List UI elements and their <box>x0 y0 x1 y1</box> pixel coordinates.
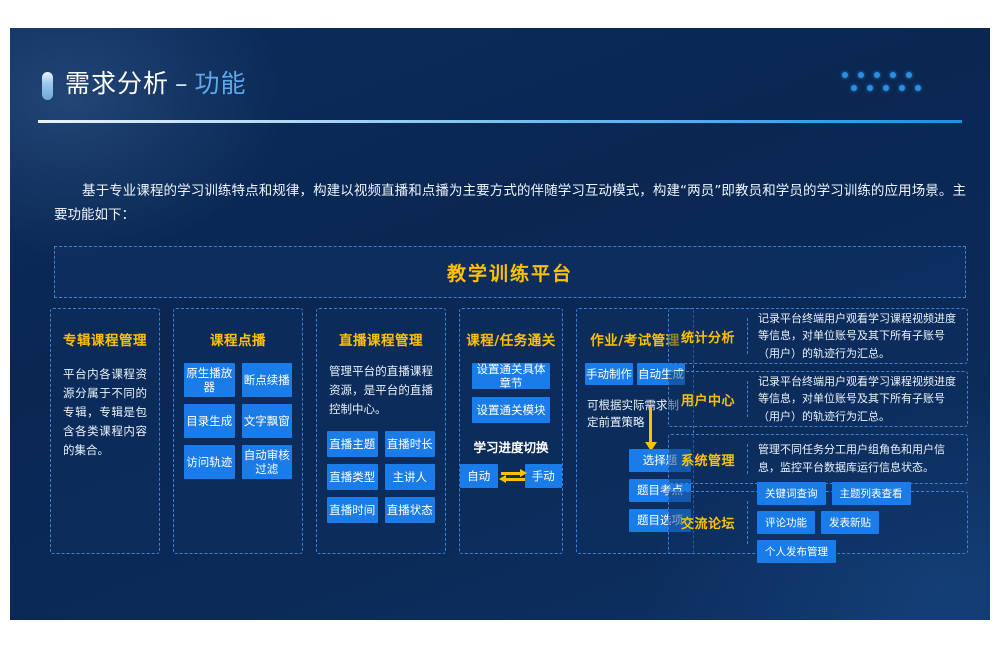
column-description: 管理平台的直播课程资源，是平台的直播控制中心。 <box>329 362 433 419</box>
tag-new-post[interactable]: 发表新贴 <box>821 511 879 534</box>
button-manual-creation[interactable]: 手动制作 <box>585 363 633 385</box>
column-course-on-demand[interactable]: 课程点播 原生播放器 断点续播 目录生成 文字飘窗 访问轨迹 自动审核过滤 <box>173 308 303 554</box>
button-live-topic[interactable]: 直播主题 <box>327 431 378 457</box>
button-catalog-generation[interactable]: 目录生成 <box>184 404 235 438</box>
side-row-statistics[interactable]: 统计分析 记录平台终端用户观看学习课程视频进度等信息，对单位账号及其下所有子账号… <box>668 308 968 364</box>
column-button-grid: 原生播放器 断点续播 目录生成 文字飘窗 访问轨迹 自动审核过滤 <box>184 363 292 479</box>
column-album-course-management[interactable]: 专辑课程管理 平台内各课程资源分属于不同的专辑，专辑是包含各类课程内容的集合。 <box>50 308 160 554</box>
column-title: 课程点播 <box>174 329 302 349</box>
side-row-label: 交流论坛 <box>669 513 747 532</box>
column-title: 直播课程管理 <box>317 329 445 349</box>
side-row-description: 管理不同任务分工用户组角色和用户信息，监控平台数据库运行信息状态。 <box>748 441 967 476</box>
bidirectional-arrows-icon <box>498 464 525 488</box>
column-button-grid: 直播主题 直播时长 直播类型 主讲人 直播时间 直播状态 <box>327 431 435 523</box>
button-set-clearance-module[interactable]: 设置通关模块 <box>472 397 550 423</box>
page-title: 需求分析–功能 <box>65 64 247 100</box>
side-row-user-center[interactable]: 用户中心 记录平台终端用户观看学习课程视频进度等信息，对单位账号及其下所有子账号… <box>668 371 968 427</box>
side-row-system-management[interactable]: 系统管理 管理不同任务分工用户组角色和用户信息，监控平台数据库运行信息状态。 <box>668 434 968 484</box>
button-native-player[interactable]: 原生播放器 <box>184 363 235 397</box>
intro-paragraph: 基于专业课程的学习训练特点和规律，构建以视频直播和点播为主要方式的伴随学习互动模… <box>54 180 966 227</box>
side-row-label: 统计分析 <box>669 327 747 346</box>
button-live-duration[interactable]: 直播时长 <box>385 431 436 457</box>
button-set-clearance-chapter[interactable]: 设置通关具体章节 <box>472 363 550 389</box>
side-row-description: 记录平台终端用户观看学习课程视频进度等信息，对单位账号及其下所有子账号（用户）的… <box>748 373 967 426</box>
column-live-course-management[interactable]: 直播课程管理 管理平台的直播课程资源，是平台的直播控制中心。 直播主题 直播时长… <box>316 308 446 554</box>
button-mode-auto[interactable]: 自动 <box>460 464 498 488</box>
side-row-label: 系统管理 <box>669 450 747 469</box>
button-access-trace[interactable]: 访问轨迹 <box>184 445 235 479</box>
platform-banner: 教学训练平台 <box>54 246 966 298</box>
column-title: 课程/任务通关 <box>460 329 562 349</box>
column-button-stack: 设置通关具体章节 设置通关模块 <box>472 363 550 423</box>
column-description: 平台内各课程资源分属于不同的专辑，专辑是包含各类课程内容的集合。 <box>63 365 147 460</box>
learning-progress-switch: 自动 手动 <box>460 464 562 488</box>
title-underline-divider <box>38 120 962 123</box>
side-row-forum[interactable]: 交流论坛 关键词查询 主题列表查看 评论功能 发表新贴 个人发布管理 <box>668 491 968 554</box>
tag-comment-function[interactable]: 评论功能 <box>757 511 815 534</box>
learning-progress-switch-label: 学习进度切换 <box>460 437 562 456</box>
button-live-time[interactable]: 直播时间 <box>327 497 378 523</box>
tag-keyword-search[interactable]: 关键词查询 <box>757 482 826 505</box>
side-feature-rows: 统计分析 记录平台终端用户观看学习课程视频进度等信息，对单位账号及其下所有子账号… <box>668 308 968 554</box>
platform-banner-label: 教学训练平台 <box>447 259 573 286</box>
down-arrow-icon <box>649 407 652 443</box>
side-row-description: 记录平台终端用户观看学习课程视频进度等信息，对单位账号及其下所有子账号（用户）的… <box>748 310 967 363</box>
column-course-task-clearance[interactable]: 课程/任务通关 设置通关具体章节 设置通关模块 学习进度切换 自动 手动 <box>459 308 563 554</box>
tag-personal-publish-management[interactable]: 个人发布管理 <box>757 540 836 563</box>
decorative-dots-icon <box>842 72 946 102</box>
forum-tag-list: 关键词查询 主题列表查看 评论功能 发表新贴 个人发布管理 <box>748 482 967 563</box>
slide-canvas: 需求分析–功能 基于专业课程的学习训练特点和规律，构建以视频直播和点播为主要方式… <box>10 28 990 620</box>
button-resume-playback[interactable]: 断点续播 <box>242 363 293 397</box>
title-accent-pill-icon <box>42 72 53 100</box>
page-title-main: 需求分析 <box>65 69 169 98</box>
slide-header: 需求分析–功能 <box>38 64 962 130</box>
button-live-status[interactable]: 直播状态 <box>385 497 436 523</box>
button-live-type[interactable]: 直播类型 <box>327 464 378 490</box>
page-title-dash: – <box>169 69 195 98</box>
page-title-sub: 功能 <box>195 69 247 98</box>
button-live-speaker[interactable]: 主讲人 <box>385 464 436 490</box>
button-mode-manual[interactable]: 手动 <box>525 464 563 488</box>
button-text-popup[interactable]: 文字飘窗 <box>242 404 293 438</box>
side-row-label: 用户中心 <box>669 390 747 409</box>
column-title: 专辑课程管理 <box>51 329 159 349</box>
button-auto-review-filter[interactable]: 自动审核过滤 <box>242 445 293 479</box>
tag-topic-list-view[interactable]: 主题列表查看 <box>832 482 911 505</box>
